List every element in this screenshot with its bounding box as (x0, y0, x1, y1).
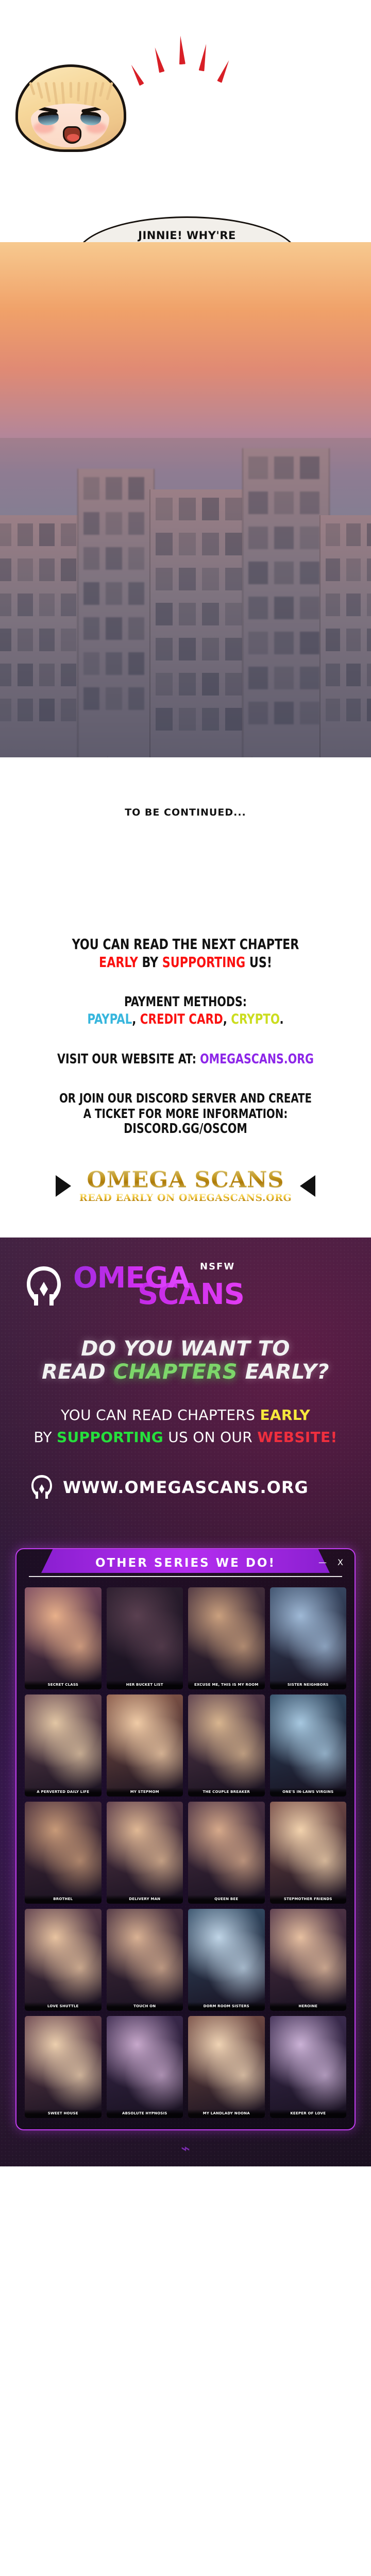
impact-lines-icon (129, 28, 247, 90)
series-cover-art (107, 1802, 183, 1904)
promo-early-word: EARLY (99, 954, 138, 971)
series-cover-art (188, 2016, 265, 2118)
promo-discord-line-2: A TICKET FOR MORE INFORMATION: (22, 1106, 349, 1122)
triangle-right-icon (300, 1175, 315, 1197)
building-window (248, 597, 268, 619)
omega-logo-icon (24, 1264, 64, 1309)
building-window (0, 699, 11, 721)
building-window (83, 582, 99, 605)
other-series-grid: SECRET CLASSHER BUCKET LISTEXCUSE ME, TH… (16, 1577, 355, 2120)
headline-early: EARLY? (238, 1360, 329, 1384)
omega-scans-nsfw-banner: OMEGA NSFW SCANS DO YOU WANT TO READ CHA… (0, 1238, 371, 2166)
series-title-caption: EXCUSE ME, THIS IS MY ROOM (188, 1681, 265, 1689)
series-title-caption: KEEPER OF LOVE (270, 2109, 347, 2118)
building-window (0, 523, 11, 546)
building-window (0, 558, 11, 581)
building-window (61, 664, 76, 686)
building-window (61, 699, 76, 721)
discord-invite-link[interactable]: DISCORD.GG/OSCOM (22, 1121, 349, 1137)
building-window (202, 673, 219, 696)
building-window (248, 702, 268, 724)
building-window (128, 547, 144, 570)
building-window (39, 699, 55, 721)
building-window (18, 523, 33, 546)
building-window (106, 582, 122, 605)
building-window (128, 512, 144, 535)
building-window (225, 603, 242, 625)
banner-brand-lockup: OMEGA NSFW SCANS (0, 1238, 371, 1309)
comic-panel-city: SORRY!LET ME PUT MYPANTS ON! YOU'RE SERI… (0, 242, 371, 757)
series-title-caption: DELIVERY MAN (107, 1895, 183, 1904)
payment-crypto: CRYPTO (231, 1011, 279, 1027)
building (242, 448, 330, 757)
webtoon-page: JINNIE! WHY'REYOU ZONING OUT?!ARE YOU NO… (0, 0, 371, 2166)
building-window (326, 699, 340, 721)
series-cover-art (270, 1909, 347, 2011)
gold-logo-subtitle: READ EARLY ON OMEGASCANS.ORG (79, 1192, 292, 1204)
other-series-title: OTHER SERIES WE DO! (95, 1556, 276, 1570)
omega-logo-small-icon (30, 1474, 54, 1501)
building-window (39, 594, 55, 616)
building-window (274, 562, 294, 584)
building-window (18, 558, 33, 581)
sub-early: EARLY (260, 1406, 310, 1423)
banner-sub-2: BY SUPPORTING US ON OUR WEBSITE! (0, 1428, 371, 1447)
series-title-caption: STEPMOTHER FRIENDS (270, 1895, 347, 1904)
series-thumbnail[interactable]: ABSOLUTE HYPNOSIS (107, 2016, 183, 2118)
building-window (18, 594, 33, 616)
chibi-character-blonde (15, 64, 126, 165)
other-series-titlebar: OTHER SERIES WE DO! — X (16, 1549, 355, 1577)
building-window (300, 597, 319, 619)
building-window (367, 594, 371, 616)
building-window (346, 629, 361, 651)
building-window (274, 527, 294, 549)
sub-supporting: SUPPORTING (57, 1429, 163, 1446)
sub-by: BY (33, 1429, 57, 1446)
payment-period: . (280, 1011, 284, 1027)
promo-website-line: VISIT OUR WEBSITE AT: OMEGASCANS.ORG (22, 1052, 349, 1067)
series-thumbnail[interactable]: MY LANDLADY NOONA (188, 2016, 265, 2118)
support-promo-block: YOU CAN READ THE NEXT CHAPTER EARLY BY S… (0, 926, 371, 1165)
series-thumbnail[interactable]: HER BUCKET LIST (107, 1587, 183, 1689)
building-window (156, 603, 173, 625)
footer-glyph-icon: ⌁ (181, 2140, 190, 2158)
series-thumbnail[interactable]: QUEEN BEE (188, 1802, 265, 1904)
banner-website-row[interactable]: WWW.OMEGASCANS.ORG (0, 1447, 371, 1501)
building-window (83, 687, 99, 710)
omega-scans-gold-logo: OMEGA SCANS READ EARLY ON OMEGASCANS.ORG (0, 1165, 371, 1238)
gold-logo-text-group: OMEGA SCANS READ EARLY ON OMEGASCANS.ORG (79, 1169, 292, 1204)
building-window (202, 708, 219, 731)
series-cover-art (107, 1909, 183, 2011)
building-window (61, 558, 76, 581)
building-window (106, 652, 122, 675)
building-window (326, 523, 340, 546)
headline-chapters: CHAPTERS (113, 1360, 238, 1384)
series-title-caption: SWEET HOUSE (25, 2109, 102, 2118)
building-window (300, 702, 319, 724)
series-cover-art (25, 1694, 102, 1797)
building-window (248, 527, 268, 549)
building-window (156, 533, 173, 555)
banner-headline-2: READ CHAPTERS EARLY? (0, 1361, 371, 1384)
series-cover-art (188, 1694, 265, 1797)
banner-brand-text: OMEGA NSFW SCANS (73, 1265, 244, 1308)
building-window (61, 594, 76, 616)
banner-website-url[interactable]: WWW.OMEGASCANS.ORG (63, 1478, 309, 1497)
building-window (274, 632, 294, 654)
building-window (106, 477, 122, 500)
series-cover-art (107, 1694, 183, 1797)
series-thumbnail[interactable]: KEEPER OF LOVE (270, 2016, 347, 2118)
building-window (106, 687, 122, 710)
building-window (106, 617, 122, 640)
series-cover-art (270, 2016, 347, 2118)
building-window (202, 568, 219, 590)
building-window (225, 708, 242, 731)
series-title-caption: HER BUCKET LIST (107, 1681, 183, 1689)
series-title-caption: SISTER NEIGHBORS (270, 1681, 347, 1689)
payment-sep-2: , (223, 1011, 231, 1027)
sub-exclaim: ! (330, 1429, 337, 1446)
series-cover-art (107, 1587, 183, 1689)
building-window (248, 667, 268, 689)
payment-paypal: PAYPAL (87, 1011, 132, 1027)
building-window (83, 547, 99, 570)
series-cover-art (25, 1909, 102, 2011)
promo-supporting-word: SUPPORTING (162, 954, 245, 971)
series-thumbnail[interactable]: MY STEPMOM (107, 1694, 183, 1797)
series-title-caption: SECRET CLASS (25, 1681, 102, 1689)
building-window (0, 594, 11, 616)
building-window (179, 533, 196, 555)
promo-line-early-support: EARLY BY SUPPORTING US! (22, 954, 349, 971)
series-title-caption: MY STEPMOM (107, 1788, 183, 1797)
building (77, 469, 155, 757)
banner-sub-1: YOU CAN READ CHAPTERS EARLY (0, 1405, 371, 1425)
building-window (128, 477, 144, 500)
building-window (179, 568, 196, 590)
building-window (346, 664, 361, 686)
series-cover-art (188, 1909, 265, 2011)
building-window (179, 638, 196, 660)
series-thumbnail[interactable]: STEPMOTHER FRIENDS (270, 1802, 347, 1904)
building (149, 489, 252, 757)
series-cover-art (25, 1802, 102, 1904)
building-window (179, 673, 196, 696)
building-window (274, 492, 294, 514)
building-window (202, 498, 219, 520)
building-window (202, 533, 219, 555)
building-window (300, 527, 319, 549)
window-controls[interactable]: — X (318, 1557, 347, 1567)
building-window (326, 594, 340, 616)
building-window (248, 562, 268, 584)
series-cover-art (270, 1587, 347, 1689)
triangle-left-icon (56, 1175, 71, 1197)
building-window (300, 456, 319, 479)
comic-panel-top: JINNIE! WHY'REYOU ZONING OUT?!ARE YOU NO… (0, 0, 371, 242)
series-title-caption: ONE'S IN-LAWS VIRGINS (270, 1788, 347, 1797)
building-window (61, 629, 76, 651)
building-window (128, 687, 144, 710)
series-title-caption: THE COUPLE BREAKER (188, 1788, 265, 1797)
series-thumbnail[interactable]: HEROINE (270, 1909, 347, 2011)
titlebar-underline (29, 1576, 342, 1577)
sub-website: WEBSITE (257, 1429, 330, 1446)
series-thumbnail[interactable]: BROTHEL (25, 1802, 102, 1904)
building-window (202, 638, 219, 660)
building-window (39, 629, 55, 651)
building-window (326, 664, 340, 686)
building (319, 515, 371, 757)
sub-read-chapters: YOU CAN READ CHAPTERS (61, 1406, 260, 1423)
series-cover-art (188, 1802, 265, 1904)
building-window (156, 638, 173, 660)
building-window (346, 523, 361, 546)
series-thumbnail[interactable]: A PERVERTED DAILY LIFE (25, 1694, 102, 1797)
series-title-caption: LOVE SHUTTLE (25, 2002, 102, 2011)
building-window (274, 456, 294, 479)
gold-logo-title: OMEGA SCANS (79, 1169, 292, 1191)
comic-section: JINNIE! WHY'REYOU ZONING OUT?!ARE YOU NO… (0, 0, 371, 926)
series-title-caption: ABSOLUTE HYPNOSIS (107, 2109, 183, 2118)
building-window (156, 708, 173, 731)
building-window (225, 498, 242, 520)
building-window (367, 523, 371, 546)
building-window (202, 603, 219, 625)
series-thumbnail[interactable]: LOVE SHUTTLE (25, 1909, 102, 2011)
sky-gradient (0, 242, 371, 438)
promo-spacer-2 (0, 1028, 371, 1052)
building-window (274, 597, 294, 619)
building-window (274, 702, 294, 724)
brand-scans: SCANS (138, 1281, 244, 1308)
series-thumbnail[interactable]: SECRET CLASS (25, 1587, 102, 1689)
headline-read: READ (42, 1360, 113, 1384)
sub-us-on-our: US ON OUR (163, 1429, 257, 1446)
building-window (61, 523, 76, 546)
building-window (0, 664, 11, 686)
series-thumbnail[interactable]: TOUCH ON (107, 1909, 183, 2011)
banner-headline-1: DO YOU WANT TO (0, 1337, 371, 1361)
series-cover-art (270, 1802, 347, 1904)
website-url-link[interactable]: OMEGASCANS.ORG (200, 1052, 314, 1067)
building-window (156, 568, 173, 590)
series-thumbnail[interactable]: DORM ROOM SISTERS (188, 1909, 265, 2011)
building-window (300, 492, 319, 514)
building-window (346, 594, 361, 616)
building-window (106, 547, 122, 570)
series-title-caption: QUEEN BEE (188, 1895, 265, 1904)
building-window (367, 629, 371, 651)
promo-us-word: US! (245, 954, 272, 971)
series-title-caption: MY LANDLADY NOONA (188, 2109, 265, 2118)
banner-footer: ⌁ (0, 2130, 371, 2166)
building-window (179, 498, 196, 520)
series-title-caption: BROTHEL (25, 1895, 102, 1904)
building-window (39, 558, 55, 581)
building-window (83, 512, 99, 535)
building-window (18, 664, 33, 686)
building-window (225, 673, 242, 696)
website-label: VISIT OUR WEBSITE AT: (57, 1052, 200, 1067)
building-window (326, 629, 340, 651)
building-window (18, 629, 33, 651)
series-cover-art (270, 1694, 347, 1797)
promo-discord-line-1: OR JOIN OUR DISCORD SERVER AND CREATE (22, 1091, 349, 1106)
building-window (248, 632, 268, 654)
series-cover-art (25, 1587, 102, 1689)
building-window (156, 673, 173, 696)
series-thumbnail[interactable]: DELIVERY MAN (107, 1802, 183, 1904)
building-window (156, 498, 173, 520)
series-thumbnail[interactable]: THE COUPLE BREAKER (188, 1694, 265, 1797)
building-window (83, 477, 99, 500)
series-thumbnail[interactable]: ONE'S IN-LAWS VIRGINS (270, 1694, 347, 1797)
chibi-mouth (63, 126, 81, 144)
brand-nsfw-tag: NSFW (200, 1263, 235, 1272)
building-window (83, 652, 99, 675)
payment-credit-card: CREDIT CARD (140, 1011, 223, 1027)
building-window (367, 699, 371, 721)
series-cover-art (188, 1587, 265, 1689)
speech-bubble-1: JINNIE! WHY'REYOU ZONING OUT?!ARE YOU NO… (76, 216, 298, 242)
series-title-caption: HEROINE (270, 2002, 347, 2011)
series-title-caption: A PERVERTED DAILY LIFE (25, 1788, 102, 1797)
building-window (128, 617, 144, 640)
series-thumbnail[interactable]: SISTER NEIGHBORS (270, 1587, 347, 1689)
building-window (346, 558, 361, 581)
series-title-caption: DORM ROOM SISTERS (188, 2002, 265, 2011)
building-window (225, 638, 242, 660)
building-window (326, 558, 340, 581)
promo-payment-methods-label: PAYMENT METHODS: (22, 994, 349, 1010)
building-window (248, 456, 268, 479)
building-window (83, 617, 99, 640)
building-window (248, 492, 268, 514)
payment-sep-1: , (132, 1011, 140, 1027)
building-window (300, 632, 319, 654)
series-thumbnail[interactable]: EXCUSE ME, THIS IS MY ROOM (188, 1587, 265, 1689)
to-be-continued-text: TO BE CONTINUED... (0, 757, 371, 926)
building-window (128, 582, 144, 605)
building-window (39, 664, 55, 686)
promo-spacer-3 (0, 1067, 371, 1091)
building-window (274, 667, 294, 689)
banner-hook-text: DO YOU WANT TO READ CHAPTERS EARLY? YOU … (0, 1309, 371, 1447)
promo-spacer-1 (0, 971, 371, 994)
promo-payment-methods-values: PAYPAL, CREDIT CARD, CRYPTO. (22, 1011, 349, 1028)
series-thumbnail[interactable]: SWEET HOUSE (25, 2016, 102, 2118)
building-window (18, 699, 33, 721)
building-window (128, 652, 144, 675)
promo-by-word: BY (138, 954, 162, 971)
building-window (346, 699, 361, 721)
building-window (225, 533, 242, 555)
building-window (106, 512, 122, 535)
building-window (367, 664, 371, 686)
series-cover-art (25, 2016, 102, 2118)
promo-line-next-chapter: YOU CAN READ THE NEXT CHAPTER (22, 936, 349, 953)
building-window (179, 603, 196, 625)
series-title-caption: TOUCH ON (107, 2002, 183, 2011)
building-window (0, 629, 11, 651)
building-window (300, 667, 319, 689)
series-cover-art (107, 2016, 183, 2118)
other-series-window: OTHER SERIES WE DO! — X SECRET CLASSHER … (15, 1548, 356, 2130)
building-window (39, 523, 55, 546)
building-window (367, 558, 371, 581)
building-window (300, 562, 319, 584)
building-window (225, 568, 242, 590)
building-window (179, 708, 196, 731)
